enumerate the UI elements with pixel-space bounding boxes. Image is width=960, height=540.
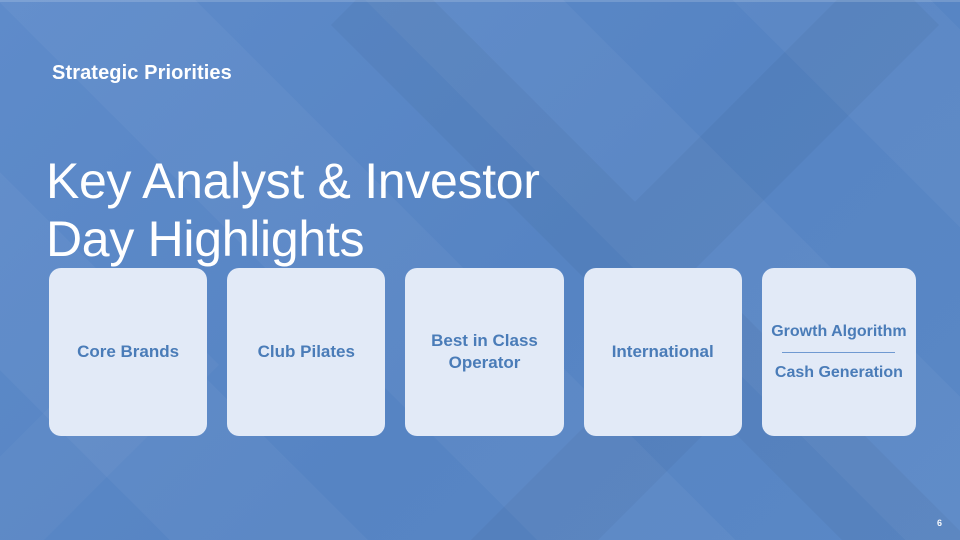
priority-card-club-pilates[interactable]: Club Pilates <box>227 268 385 436</box>
page-title-line-2: Day Highlights <box>46 210 666 268</box>
priority-card-core-brands[interactable]: Core Brands <box>49 268 207 436</box>
card-divider <box>782 352 895 353</box>
priority-card-label-top: Growth Algorithm <box>770 321 908 342</box>
slide-canvas: Strategic Priorities Key Analyst & Inves… <box>0 0 960 540</box>
priority-card-growth-algorithm-cash-generation[interactable]: Growth Algorithm Cash Generation <box>762 268 916 436</box>
priority-card-best-in-class-operator[interactable]: Best in Class Operator <box>405 268 563 436</box>
priority-card-row: Core Brands Club Pilates Best in Class O… <box>49 268 916 436</box>
priority-card-international[interactable]: International <box>584 268 742 436</box>
priority-card-label: International <box>612 341 714 363</box>
priority-card-label: Club Pilates <box>258 341 355 363</box>
eyebrow-label: Strategic Priorities <box>52 62 232 85</box>
priority-card-label-bottom: Cash Generation <box>770 362 908 383</box>
page-title-line-1: Key Analyst & Investor <box>46 152 666 210</box>
priority-card-label: Best in Class Operator <box>415 330 553 374</box>
page-number: 6 <box>937 518 942 528</box>
top-divider <box>0 0 960 2</box>
priority-card-label: Core Brands <box>77 341 179 363</box>
page-title: Key Analyst & Investor Day Highlights <box>46 152 666 268</box>
